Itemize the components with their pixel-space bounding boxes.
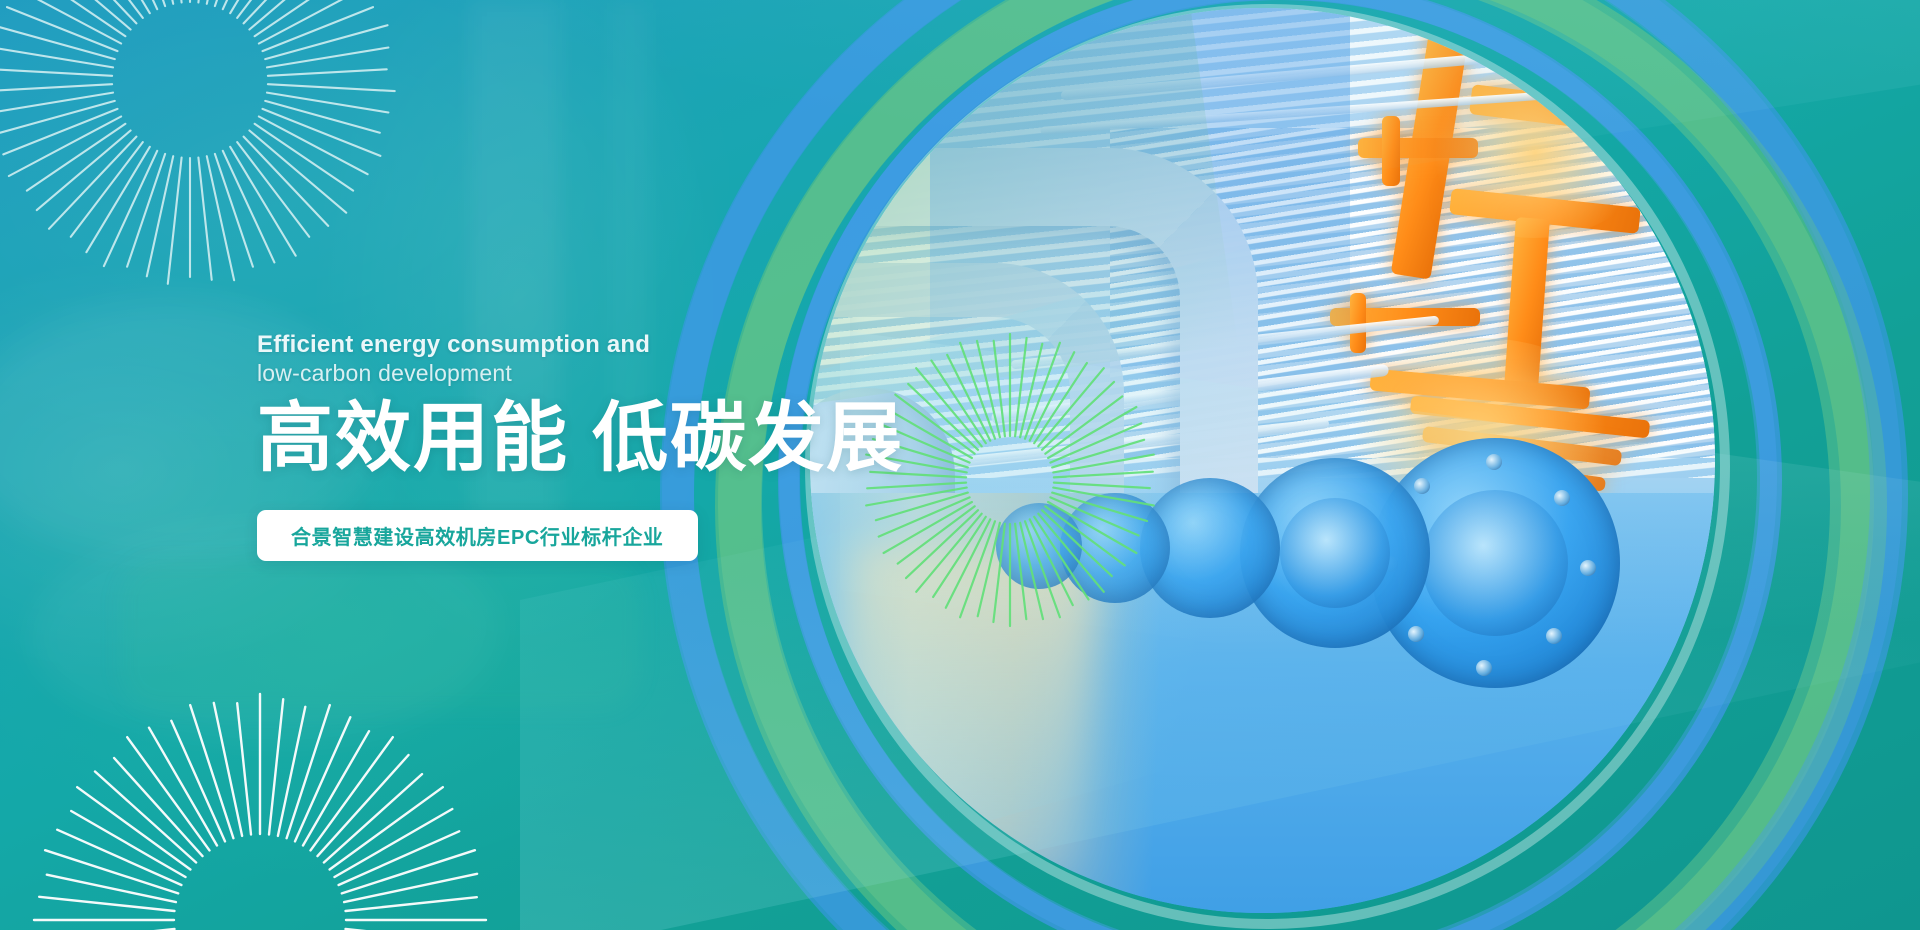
photo-bolt — [1554, 490, 1570, 506]
photo-bolt — [1414, 478, 1430, 494]
photo-orange-pipe — [1382, 116, 1400, 186]
eyebrow-line-2: low-carbon development — [257, 359, 904, 388]
photo-bolt — [1408, 626, 1424, 642]
photo-flange-hub — [1422, 490, 1568, 636]
photo-bolt — [1486, 454, 1502, 470]
industrial-piping-photo — [810, 8, 1715, 913]
photo-bolt — [1476, 660, 1492, 676]
hero-text-block: Efficient energy consumption and low-car… — [257, 330, 904, 561]
sunburst-icon — [0, 0, 400, 290]
background-bar — [120, 560, 640, 710]
eyebrow-line-1: Efficient energy consumption and — [257, 330, 904, 359]
photo-bolt — [1580, 560, 1596, 576]
cta-button[interactable]: 合景智慧建设高效机房EPC行业标杆企业 — [257, 510, 698, 561]
photo-bolt — [1546, 628, 1562, 644]
page-title: 高效用能 低碳发展 — [257, 398, 904, 480]
hero-banner: Efficient energy consumption and low-car… — [0, 0, 1920, 930]
